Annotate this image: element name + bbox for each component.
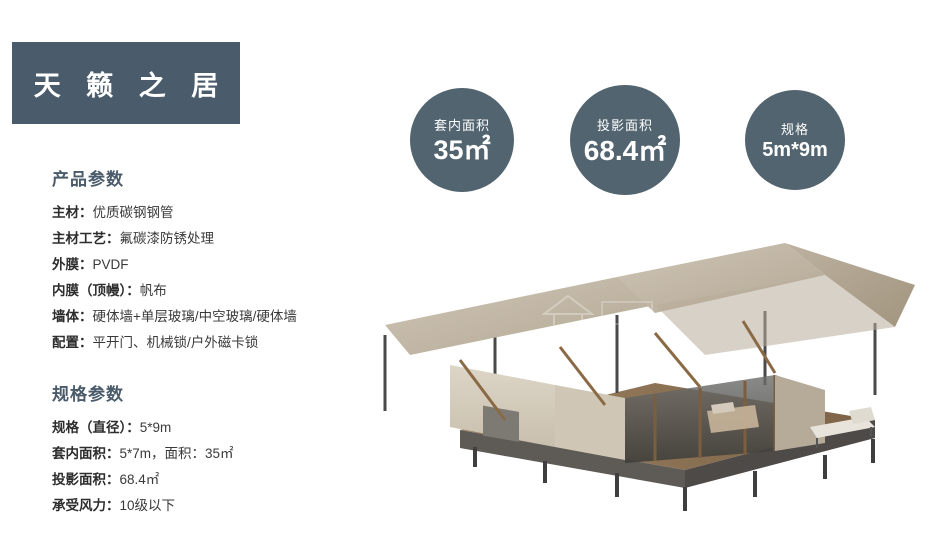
- spec-label: 套内面积：: [52, 446, 120, 461]
- spec-label: 配置：: [52, 335, 93, 350]
- window-left: [483, 406, 519, 442]
- spec-row: 主材工艺：氟碳漆防锈处理: [52, 226, 382, 252]
- spec-label: 规格（直径）：: [52, 420, 140, 435]
- spec-row: 规格（直径）：5*9m: [52, 415, 382, 441]
- product-spec-page: 天 籁 之 居 产品参数 主材：优质碳钢钢管 主材工艺：氟碳漆防锈处理 外膜：P…: [0, 0, 950, 534]
- size-params-heading: 规格参数: [52, 380, 382, 405]
- watermark-logo: [540, 290, 660, 336]
- stat-label: 套内面积: [434, 115, 490, 134]
- product-params-heading: 产品参数: [52, 165, 382, 190]
- tent-house-render: [355, 215, 945, 525]
- spec-row: 内膜（顶幔）：帆布: [52, 278, 382, 304]
- spec-label: 主材工艺：: [52, 231, 120, 246]
- spec-value: 10级以下: [120, 498, 176, 513]
- spec-row: 主材：优质碳钢钢管: [52, 200, 382, 226]
- page-title: 天 籁 之 居: [25, 64, 228, 103]
- spec-value: 5*7m，面积：35㎡: [120, 446, 234, 461]
- spec-value: 5*9m: [140, 420, 172, 435]
- stat-value: 68.4㎡: [584, 136, 667, 165]
- spec-value: 优质碳钢钢管: [93, 205, 174, 220]
- spec-label: 外膜：: [52, 257, 93, 272]
- stat-value: 5m*9m: [762, 140, 828, 161]
- wall-left-2: [555, 385, 625, 460]
- spec-row: 外膜：PVDF: [52, 252, 382, 278]
- spec-label: 墙体：: [52, 309, 93, 324]
- specifications-block: 产品参数 主材：优质碳钢钢管 主材工艺：氟碳漆防锈处理 外膜：PVDF 内膜（顶…: [52, 165, 382, 519]
- spec-row: 墙体：硬体墙+单层玻璃/中空玻璃/硬体墙: [52, 304, 382, 330]
- spec-label: 主材：: [52, 205, 93, 220]
- stat-circle-interior-area: 套内面积 35㎡: [410, 88, 514, 192]
- spec-value: PVDF: [93, 257, 129, 272]
- stat-circle-projected-area: 投影面积 68.4㎡: [570, 85, 680, 195]
- spec-row: 套内面积：5*7m，面积：35㎡: [52, 441, 382, 467]
- spec-row: 承受风力：10级以下: [52, 493, 382, 519]
- stat-label: 投影面积: [597, 115, 653, 134]
- spec-label: 承受风力：: [52, 498, 120, 513]
- spec-value: 硬体墙+单层玻璃/中空玻璃/硬体墙: [93, 309, 297, 324]
- spec-value: 平开门、机械锁/户外磁卡锁: [93, 335, 259, 350]
- spec-value: 氟碳漆防锈处理: [120, 231, 215, 246]
- stat-circle-dimensions: 规格 5m*9m: [745, 90, 845, 190]
- title-banner: 天 籁 之 居: [12, 42, 240, 124]
- spec-row: 投影面积：68.4㎡: [52, 467, 382, 493]
- spec-label: 投影面积：: [52, 472, 120, 487]
- stat-value: 35㎡: [433, 136, 490, 164]
- spec-value: 68.4㎡: [120, 472, 160, 487]
- spec-value: 帆布: [140, 283, 167, 298]
- spec-row: 配置：平开门、机械锁/户外磁卡锁: [52, 330, 382, 356]
- stat-label: 规格: [781, 119, 809, 138]
- spec-label: 内膜（顶幔）：: [52, 283, 140, 298]
